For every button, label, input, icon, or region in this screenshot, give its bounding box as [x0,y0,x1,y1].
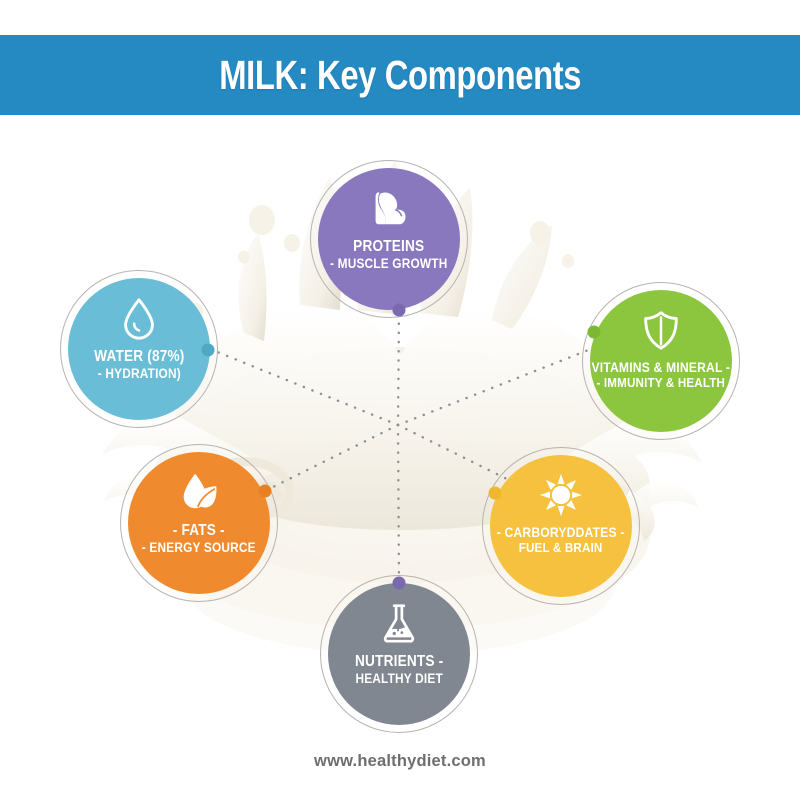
footer-website-url[interactable]: www.healthydiet.com [0,752,800,771]
node-vitamins[interactable]: VITAMINS & MINERAL - - IMMUNITY & HEALTH [590,290,732,432]
node-nutrients-connector-dot [389,573,409,593]
node-nutrients-circle[interactable]: NUTRIENTS - HEALTHY DIET [328,583,470,725]
sun-icon [538,472,584,518]
node-carbohydrates-circle[interactable]: - CARBORYDDATES - FUEL & BRAIN [490,455,632,597]
droplet-leaf-icon [176,469,222,515]
node-fats-connector-dot [255,481,275,501]
node-water-connector-dot [198,340,218,360]
node-carbohydrates-connector-dot [485,483,505,503]
node-water-circle[interactable]: WATER (87%) - HYDRATION) [68,278,210,420]
node-carbohydrates[interactable]: - CARBORYDDATES - FUEL & BRAIN [490,455,632,597]
node-fats-circle[interactable]: - FATS - - ENERGY SOURCE [128,452,270,594]
node-vitamins-circle[interactable]: VITAMINS & MINERAL - - IMMUNITY & HEALTH [590,290,732,432]
shield-icon [638,307,684,353]
node-carbohydrates-label: - CARBORYDDATES - FUEL & BRAIN [497,525,625,556]
node-nutrients[interactable]: NUTRIENTS - HEALTHY DIET [328,583,470,725]
node-fats[interactable]: - FATS - - ENERGY SOURCE [128,452,270,594]
node-water-label: WATER (87%) - HYDRATION) [94,348,184,381]
node-fats-label: - FATS - - ENERGY SOURCE [142,522,256,555]
node-proteins[interactable]: PROTEINS - MUSCLE GROWTH [318,168,460,310]
infographic-canvas: MILK: Key Components [0,0,800,800]
node-proteins-circle[interactable]: PROTEINS - MUSCLE GROWTH [318,168,460,310]
node-proteins-label: PROTEINS - MUSCLE GROWTH [330,238,447,271]
node-vitamins-label: VITAMINS & MINERAL - - IMMUNITY & HEALTH [592,360,731,391]
node-vitamins-connector-dot [584,322,604,342]
node-proteins-connector-dot [389,300,409,320]
node-water[interactable]: WATER (87%) - HYDRATION) [68,278,210,420]
flexed-bicep-icon [366,185,412,231]
node-nutrients-label: NUTRIENTS - HEALTHY DIET [355,653,443,686]
lab-flask-icon [376,600,422,646]
water-droplet-icon [116,295,162,341]
